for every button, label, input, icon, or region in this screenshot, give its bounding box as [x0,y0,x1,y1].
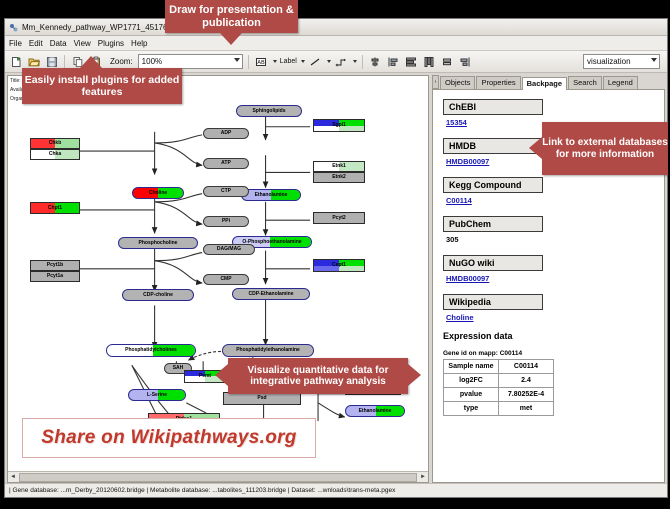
chevron-down-icon[interactable] [353,60,357,63]
tab-backpage[interactable]: Backpage [522,77,567,90]
metabolite-node-phosphocholine[interactable]: Phosphocholine [118,237,198,249]
status-text: | Gene database: ...m_Derby_20120602.bri… [9,487,395,494]
db-header-kegg-compound: Kegg Compound [443,177,543,193]
node-label: Chpt1 [48,206,62,211]
chevron-down-icon [651,58,657,62]
node-label: Ethanolamine [359,409,392,414]
cofactor-node-ppi[interactable]: PPi [203,216,249,227]
node-label: Phosphatidylcholines [125,348,177,353]
node-label: ADP [221,131,232,136]
db-link-wikipedia[interactable]: Choline [446,313,664,322]
node-label: Choline [149,191,167,196]
side-panel-tabs: ‹ Objects Properties Backpage Search Leg… [432,75,665,90]
node-label: PPi [222,219,230,224]
screenshot-root: Mm_Kennedy_pathway_WP1771_45176.gpml Fil… [0,0,670,509]
expression-table: Sample name C00114 log2FC 2.4 pvalue 7.8… [443,359,554,416]
callout-text: Easily install plugins for added feature… [22,74,182,98]
db-link-nugo-wiki[interactable]: HMDB00097 [446,274,664,283]
gene-node-pcyt2[interactable]: Pcyt2 [313,212,365,224]
table-row: Sample name C00114 [444,360,554,374]
gene-node-cept1[interactable]: Cept1 [313,259,365,272]
node-label: Pemt [199,374,211,379]
db-value-pubchem: 305 [446,235,664,244]
scroll-right-icon[interactable]: ► [418,473,428,482]
gene-node-sgpl1[interactable]: Sgpl1 [313,119,365,132]
cofactor-node-atp[interactable]: ATP [203,158,249,169]
toolbar-separator [64,55,65,69]
menu-item-plugins[interactable]: Plugins [98,39,124,48]
tab-scroll-icon[interactable]: ‹ [432,75,439,89]
tab-properties[interactable]: Properties [476,76,520,89]
shape-tool-icon[interactable]: AB [254,54,269,69]
cofactor-node-ctp[interactable]: CTP [203,186,249,197]
save-file-icon[interactable] [44,54,59,69]
cell-value: met [499,402,554,416]
connector-tool-icon[interactable] [334,54,349,69]
callout-text: Link to external databases for more info… [542,137,668,160]
node-label: Pcyt1a [47,274,63,279]
metabolite-node-cdp-choline[interactable]: CDP-choline [122,289,194,301]
cell-value: C00114 [499,360,554,374]
align-left-icon[interactable] [386,54,401,69]
node-label: CDP-choline [143,293,173,298]
callout-text: Share on Wikipathways.org [41,427,296,449]
gene-node-chpt1[interactable]: Chpt1 [30,202,80,214]
callout-arrow-up [80,56,102,68]
db-link-kegg-compound[interactable]: C00114 [446,196,664,205]
scroll-left-icon[interactable]: ◄ [8,473,18,482]
metabolite-node-sphingolipids[interactable]: Sphingolipids [236,105,302,117]
metabolite-node-phosphatidylcholines[interactable]: Phosphatidylcholines [106,344,196,357]
stack-icon[interactable] [440,54,455,69]
node-label: SAH [173,366,184,371]
align-center-icon[interactable] [368,54,383,69]
cell-key: log2FC [444,374,499,388]
toolbar-separator [362,55,363,69]
cell-key: Sample name [444,360,499,374]
chevron-down-icon[interactable] [327,60,331,63]
title-bar: Mm_Kennedy_pathway_WP1771_45176.gpml [5,19,667,36]
zoom-value: 100% [142,57,162,66]
cofactor-node-adp[interactable]: ADP [203,128,249,139]
label-tool-label[interactable]: Label [280,58,297,65]
table-row: pvalue 7.80252E-4 [444,388,554,402]
align-right-icon[interactable] [458,54,473,69]
callout-arrow-down [220,33,242,45]
node-label: Etnk1 [332,164,346,169]
cell-key: type [444,402,499,416]
node-label: Sgpl1 [332,123,346,128]
chevron-down-icon[interactable] [273,60,277,63]
zoom-combobox[interactable]: 100% [138,54,243,69]
table-row: type met [444,402,554,416]
cell-key: pvalue [444,388,499,402]
chevron-down-icon [234,58,240,62]
callout-text: Draw for presentation & publication [165,4,298,29]
metabolite-node-ethanolamine[interactable]: Ethanolamine [241,189,301,201]
metabolite-node-l-serine-left[interactable]: L-Serine [128,389,186,401]
tab-objects[interactable]: Objects [440,76,475,89]
cell-value: 2.4 [499,374,554,388]
node-label: Pcyt1b [47,263,63,268]
db-header-wikipedia: Wikipedia [443,294,543,310]
menu-item-data[interactable]: Data [50,39,67,48]
node-label: Phosphocholine [139,241,178,246]
db-header-nugo-wiki: NuGO wiki [443,255,543,271]
open-file-icon[interactable] [26,54,41,69]
callout-text: Visualize quantitative data for integrat… [228,365,408,388]
callout-plugins: Easily install plugins for added feature… [22,68,182,104]
window-title: Mm_Kennedy_pathway_WP1771_45176.gpml [22,23,187,32]
gene-node-chkb[interactable]: Chkb [30,138,80,149]
callout-arrow-left [215,364,228,386]
menu-item-file[interactable]: File [9,39,22,48]
visualization-combobox[interactable]: visualization [583,54,660,69]
cell-value: 7.80252E-4 [499,388,554,402]
toolbar-separator [248,55,249,69]
svg-text:AB: AB [257,60,265,66]
callout-arrow-left [529,137,542,159]
new-file-icon[interactable] [8,54,23,69]
callout-visualize: Visualize quantitative data for integrat… [228,358,408,394]
app-icon [9,23,18,32]
node-label: O-Phosphoethanolamine [242,240,301,245]
canvas-hscrollbar[interactable]: ◄ ► [8,471,428,482]
menu-item-help[interactable]: Help [131,39,147,48]
gene-node-etnk1[interactable]: Etnk1 [313,161,365,172]
gene-node-etnk2[interactable]: Etnk2 [313,172,365,183]
menu-bar: File Edit Data View Plugins Help [5,36,667,51]
callout-links: Link to external databases for more info… [542,122,668,175]
node-label: Chka [49,152,61,157]
cofactor-node-cmp[interactable]: CMP [203,274,249,285]
scroll-thumb[interactable] [19,473,417,482]
status-bar: | Gene database: ...m_Derby_20120602.bri… [5,483,667,497]
node-label: Psd [257,396,266,401]
node-label: CMP [220,277,231,282]
node-label: Phosphatidylethanolamine [236,348,300,353]
db-header-pubchem: PubChem [443,216,543,232]
gene-node-pcyt1a[interactable]: Pcyt1a [30,271,80,282]
metabolite-node-cdp-ethanolamine[interactable]: CDP-Ethanolamine [232,288,310,300]
callout-share: Share on Wikipathways.org [22,418,316,458]
metabolite-node-ethanolamine-right[interactable]: Ethanolamine [345,405,405,417]
node-label: CDP-Ethanolamine [248,292,293,297]
node-label: Cept1 [332,263,346,268]
distribute-horizontal-icon[interactable] [422,54,437,69]
tab-legend[interactable]: Legend [603,76,638,89]
node-label: Sphingolipids [252,109,285,114]
node-label: Ethanolamine [255,193,288,198]
callout-arrow-right [408,364,421,386]
node-label: Pcyt2 [332,216,345,221]
line-tool-icon[interactable] [308,54,323,69]
db-header-chebi: ChEBI [443,99,543,115]
cofactor-node-dagmag[interactable]: DAG/MAG [203,244,255,255]
gene-id-label: Gene id on mapp: C00114 [443,350,664,357]
node-label: ATP [221,161,231,166]
metabolite-node-choline[interactable]: Choline [132,187,184,199]
node-label: Chkb [49,141,62,146]
table-row: log2FC 2.4 [444,374,554,388]
distribute-vertical-icon[interactable] [404,54,419,69]
chevron-down-icon[interactable] [301,60,305,63]
gene-node-chka[interactable]: Chka [30,149,80,160]
metabolite-node-phosphatidylethanolamine[interactable]: Phosphatidylethanolamine [222,344,314,357]
tab-search[interactable]: Search [568,76,602,89]
db-header-hmdb: HMDB [443,138,543,154]
expression-data-heading: Expression data [443,331,664,341]
node-label: CTP [221,189,231,194]
node-label: Etnk2 [332,175,346,180]
zoom-label: Zoom: [110,57,133,66]
node-label: DAG/MAG [217,247,241,252]
gene-node-pcyt1b[interactable]: Pcyt1b [30,260,80,271]
visualization-value: visualization [587,57,631,66]
menu-item-view[interactable]: View [74,39,91,48]
callout-draw: Draw for presentation & publication [165,0,298,33]
menu-item-edit[interactable]: Edit [29,39,43,48]
node-label: L-Serine [147,393,167,398]
